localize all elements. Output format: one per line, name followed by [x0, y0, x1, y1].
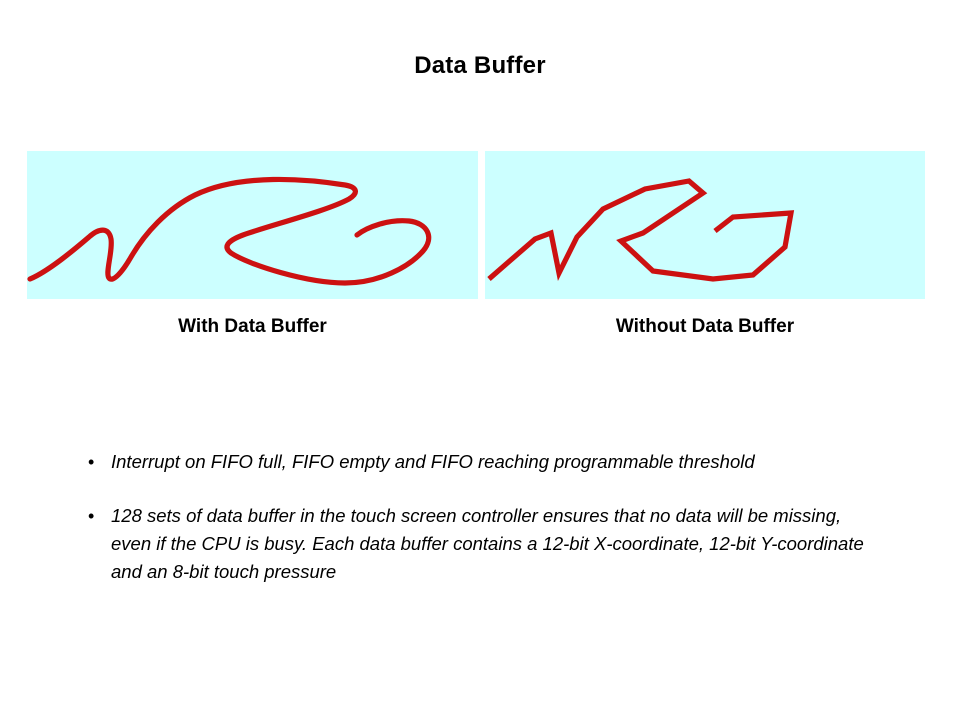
smooth-stroke-illustration — [27, 151, 478, 299]
caption-row: With Data Buffer Without Data Buffer — [27, 314, 925, 340]
jagged-stroke-illustration — [485, 151, 925, 299]
bullet-marker-icon: • — [88, 448, 94, 476]
figure-area — [27, 151, 925, 299]
panel-without-data-buffer — [485, 151, 925, 299]
bullet-marker-icon: • — [88, 502, 94, 530]
caption-with-data-buffer: With Data Buffer — [27, 314, 478, 340]
jagged-stroke-path — [489, 181, 791, 279]
bullet-text: Interrupt on FIFO full, FIFO empty and F… — [111, 448, 886, 476]
smooth-stroke-path — [30, 179, 429, 283]
bullet-item: • Interrupt on FIFO full, FIFO empty and… — [86, 448, 886, 476]
bullet-text: 128 sets of data buffer in the touch scr… — [111, 502, 886, 586]
page-title: Data Buffer — [0, 52, 960, 80]
caption-without-data-buffer: Without Data Buffer — [485, 314, 925, 340]
bullet-list: • Interrupt on FIFO full, FIFO empty and… — [86, 448, 886, 586]
panel-with-data-buffer — [27, 151, 478, 299]
bullet-item: • 128 sets of data buffer in the touch s… — [86, 502, 886, 586]
